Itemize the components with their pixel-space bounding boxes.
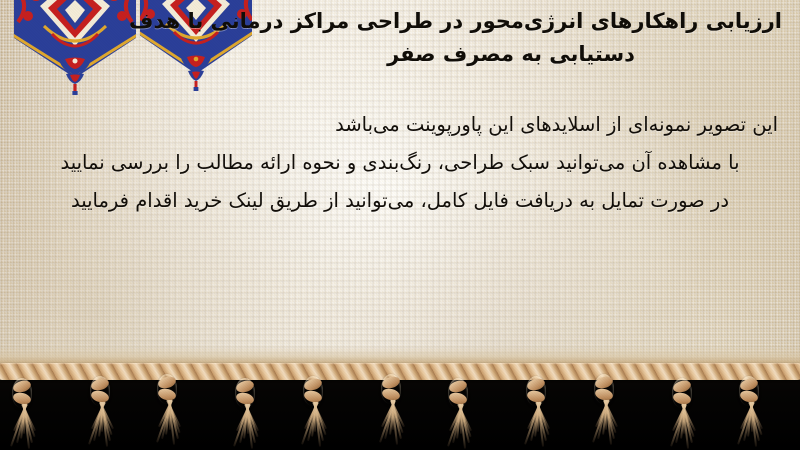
tassel-strands	[10, 404, 36, 446]
tassel-strands	[88, 402, 114, 444]
tassel-strands	[446, 404, 472, 446]
carpet-tassel	[377, 372, 407, 444]
carpet-tassels	[0, 368, 800, 450]
carpet-tassel	[668, 376, 698, 448]
carpet-tassel	[444, 376, 474, 448]
tassel-strands	[737, 402, 763, 444]
carpet-tassel	[8, 376, 38, 448]
slide-title-line-1: ارزیابی راهکارهای انرژی‌محور در طراحی مر…	[240, 4, 782, 38]
tassel-strands	[524, 402, 550, 444]
tassel-strands	[233, 404, 259, 446]
presentation-slide: ارزیابی راهکارهای انرژی‌محور در طراحی مر…	[0, 0, 800, 450]
carpet-tassel	[299, 374, 329, 446]
carpet-tassel	[735, 374, 765, 446]
carpet-tassel	[590, 372, 620, 444]
tassel-strands	[301, 402, 327, 444]
slide-body-line-1: این تصویر نمونه‌ای از اسلایدهای این پاور…	[22, 106, 778, 144]
carpet-tassel	[86, 374, 116, 446]
slide-title-line-2: دستیابی به مصرف صفر	[240, 37, 782, 71]
slide-title: ارزیابی راهکارهای انرژی‌محور در طراحی مر…	[240, 4, 782, 71]
carpet-tassel	[231, 376, 261, 448]
carpet-tassel	[153, 372, 183, 444]
carpet-tassel	[522, 374, 552, 446]
tassel-strands	[592, 400, 618, 442]
tassel-strands	[379, 400, 405, 442]
slide-body-line-2: با مشاهده آن می‌توانید سبک طراحی، رنگ‌بن…	[22, 144, 778, 182]
tassel-strands	[670, 404, 696, 446]
slide-body: این تصویر نمونه‌ای از اسلایدهای این پاور…	[22, 106, 778, 220]
slide-body-line-3: در صورت تمایل به دریافت فایل کامل، می‌تو…	[22, 182, 778, 220]
tassel-strands	[155, 400, 181, 442]
